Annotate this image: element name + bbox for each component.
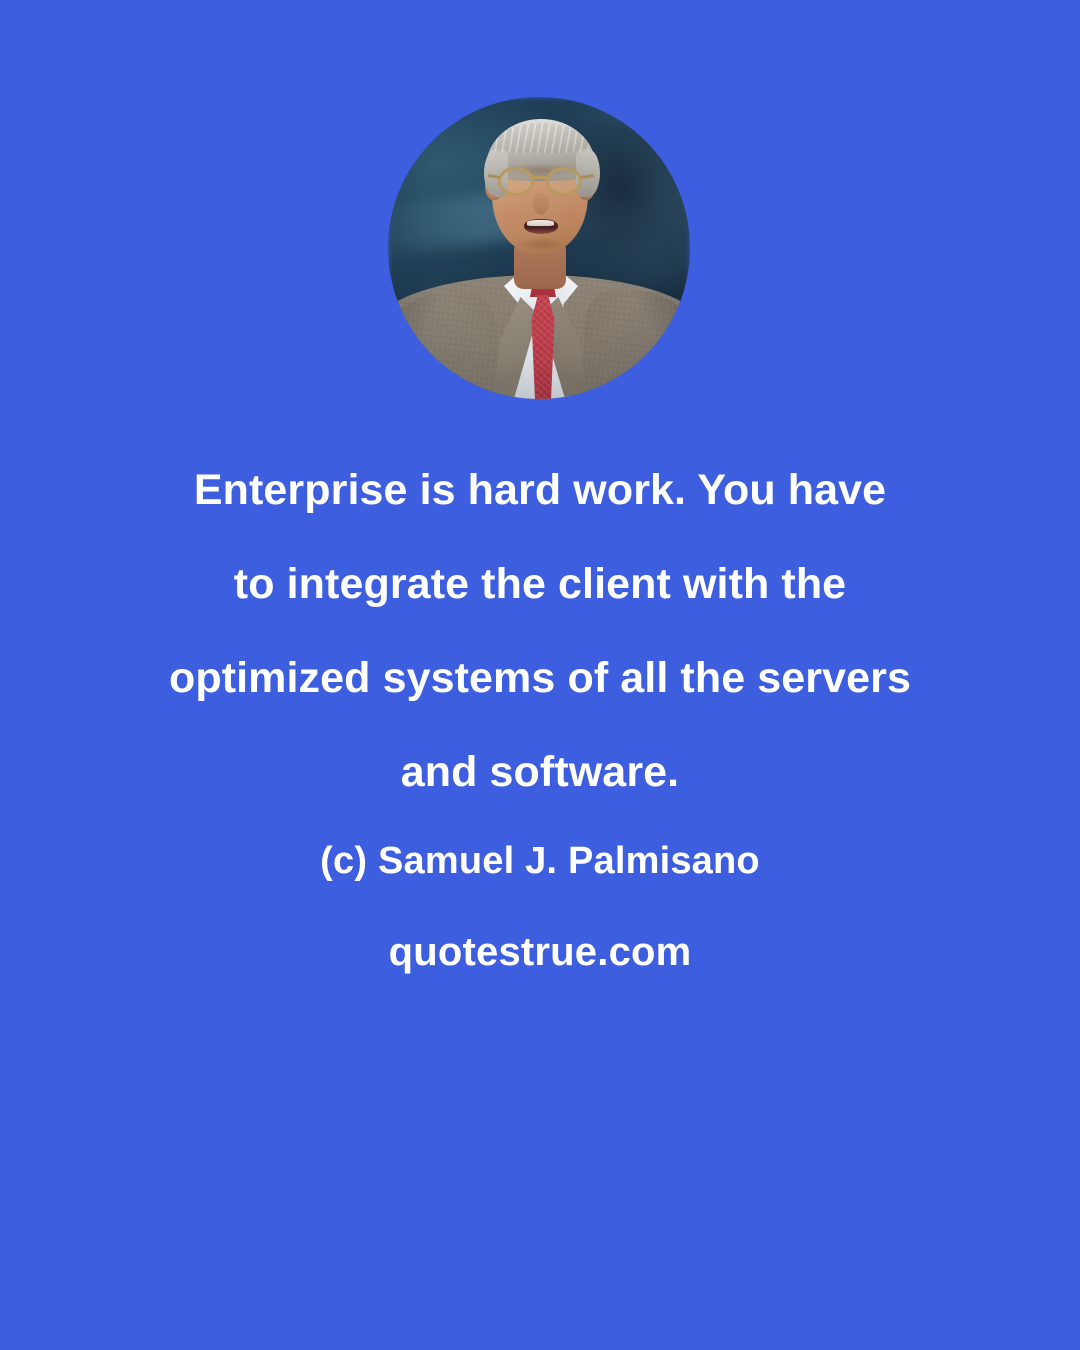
person-portrait-circle-icon — [388, 97, 690, 399]
quote-card: Enterprise is hard work. You have to int… — [0, 0, 1080, 1350]
quote-line: Enterprise is hard work. You have — [72, 443, 1008, 537]
eyeglass-lens-left — [498, 167, 534, 196]
site-watermark: quotestrue.com — [72, 925, 1008, 979]
quote-line: to integrate the client with the — [72, 537, 1008, 631]
eyeglass-lens-right — [546, 167, 582, 196]
quote-line: optimized systems of all the servers — [72, 631, 1008, 725]
nose — [533, 193, 549, 215]
eyeglass-bridge — [533, 176, 547, 179]
cheek-right — [558, 201, 584, 231]
quote-text: Enterprise is hard work. You have to int… — [72, 443, 1008, 819]
quote-line: and software. — [72, 725, 1008, 819]
portrait-avatar — [388, 97, 690, 399]
teeth — [527, 220, 554, 226]
cheek-left — [498, 201, 524, 231]
quote-attribution: (c) Samuel J. Palmisano — [72, 836, 1008, 886]
chin-shadow — [516, 237, 566, 251]
